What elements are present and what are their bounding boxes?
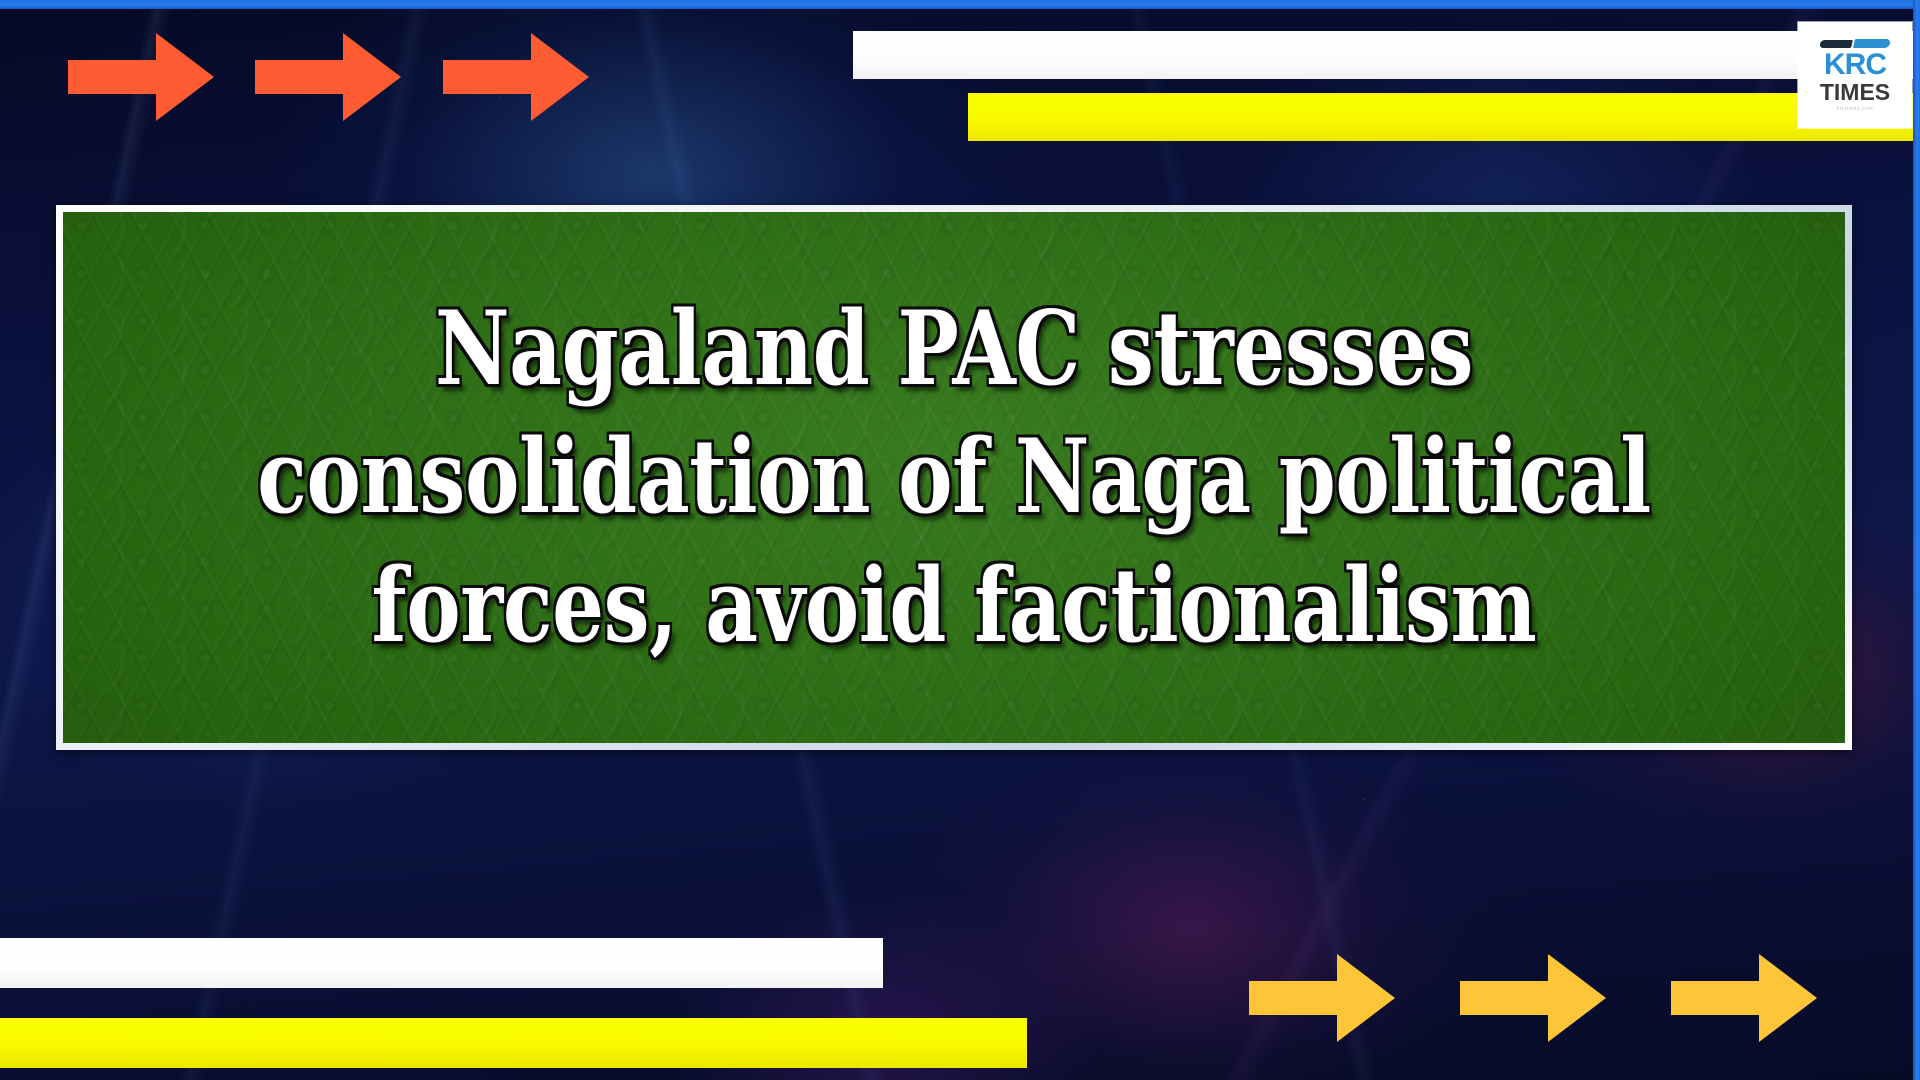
headline-panel-inner: Nagaland PAC stresses consolidation of N… xyxy=(63,212,1845,743)
logo-subtitle-text: TIMES xyxy=(1820,81,1890,104)
bottom-left-yellow-bar xyxy=(0,1018,1027,1068)
arrow-right-yellow-3 xyxy=(1671,954,1817,1042)
arrow-right-orange-2 xyxy=(255,33,401,121)
top-right-white-bar xyxy=(853,31,1920,79)
logo-brand-text: KRC xyxy=(1824,51,1886,80)
headline-line-1: Nagaland PAC stresses xyxy=(241,285,1667,414)
news-graphic-canvas: KRC TIMES krctimes.com Nagaland PAC stre… xyxy=(0,0,1920,1080)
logo-tagline-text: krctimes.com xyxy=(1837,106,1874,112)
headline-text-block: Nagaland PAC stresses consolidation of N… xyxy=(241,285,1667,671)
top-right-yellow-bar xyxy=(968,93,1920,141)
arrow-right-orange-3 xyxy=(443,33,589,121)
top-edge-accent-bar xyxy=(0,0,1920,9)
arrow-right-orange-1 xyxy=(68,33,214,121)
arrow-right-yellow-2 xyxy=(1460,954,1606,1042)
right-edge-accent-bar xyxy=(1913,0,1920,1080)
bottom-left-white-bar xyxy=(0,938,883,988)
arrow-right-yellow-1 xyxy=(1249,954,1395,1042)
headline-line-2: consolidation of Naga political xyxy=(241,413,1667,542)
headline-panel: Nagaland PAC stresses consolidation of N… xyxy=(56,205,1852,750)
headline-line-3: forces, avoid factionalism xyxy=(241,542,1667,671)
krc-times-logo: KRC TIMES krctimes.com xyxy=(1798,22,1912,128)
